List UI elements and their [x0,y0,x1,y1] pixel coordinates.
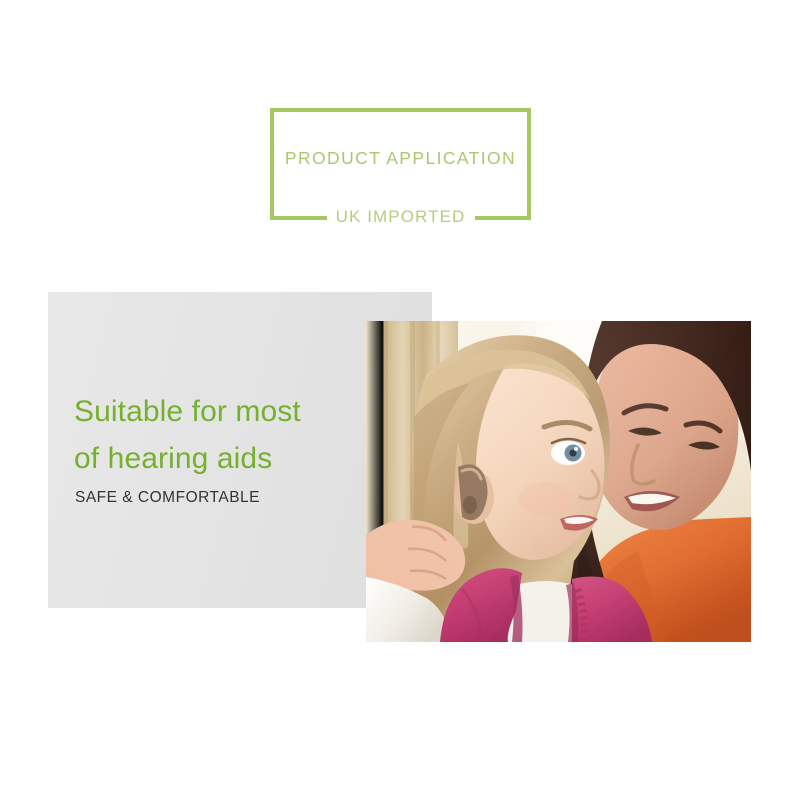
headline-line-1: Suitable for most [74,388,384,435]
photo-illustration [366,321,751,642]
marketing-banner: PRODUCT APPLICATION UK IMPORTED Suitable… [0,0,800,800]
headline: Suitable for most of hearing aids [74,388,384,482]
badge-border-top [270,108,531,112]
badge-title: PRODUCT APPLICATION [270,148,531,169]
product-application-photo [366,321,751,642]
headline-line-2: of hearing aids [74,435,384,482]
header-badge: PRODUCT APPLICATION UK IMPORTED [270,108,531,220]
badge-subtitle: UK IMPORTED [327,207,475,226]
subheadline: SAFE & COMFORTABLE [75,489,260,507]
badge-subtitle-wrap: UK IMPORTED [270,207,531,227]
